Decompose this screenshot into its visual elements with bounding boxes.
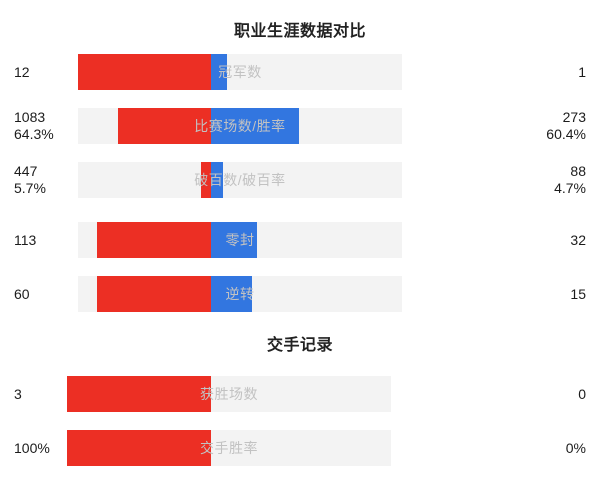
stat-row: 113零封32 [0, 218, 600, 262]
stat-row: 100%交手胜率0% [0, 426, 600, 470]
left-value-main: 12 [14, 64, 30, 80]
right-bar-track [211, 162, 402, 198]
right-value: 0% [536, 440, 600, 457]
left-bar-track [78, 108, 211, 144]
left-bar-fill [201, 162, 211, 198]
left-value-main: 60 [14, 286, 30, 302]
right-bar-fill [211, 54, 227, 90]
left-value-main: 447 [14, 163, 37, 179]
left-value: 100% [0, 440, 64, 457]
section-title-head-to-head: 交手记录 [0, 331, 600, 355]
bar-area: 破百数/破百率 [64, 162, 536, 198]
stat-row: 60逆转15 [0, 272, 600, 316]
left-bar-track [78, 162, 211, 198]
right-bar-track [211, 276, 402, 312]
bar-area: 零封 [64, 222, 536, 258]
bar-area: 获胜场数 [64, 376, 536, 412]
left-bar-fill [67, 430, 211, 466]
left-value: 4475.7% [0, 163, 64, 196]
left-bar-fill [67, 376, 211, 412]
right-value-percent: 4.7% [536, 180, 586, 197]
left-value-main: 3 [14, 386, 22, 402]
right-bar-track [211, 108, 402, 144]
left-bar-track [67, 376, 211, 412]
right-value-main: 273 [563, 109, 586, 125]
left-value-main: 113 [14, 232, 36, 248]
left-value-main: 1083 [14, 109, 45, 125]
right-bar-fill [211, 108, 299, 144]
right-value: 27360.4% [536, 109, 600, 142]
stat-row: 3获胜场数0 [0, 372, 600, 416]
left-bar-fill [97, 276, 211, 312]
left-bar-track [78, 276, 211, 312]
stat-row: 12冠军数1 [0, 50, 600, 94]
right-value-percent: 60.4% [536, 126, 586, 143]
right-value-main: 88 [570, 163, 586, 179]
left-bar-fill [97, 222, 211, 258]
right-value: 1 [536, 64, 600, 81]
left-bar-track [78, 54, 211, 90]
left-value: 60 [0, 286, 64, 303]
left-bar-track [67, 430, 211, 466]
right-bar-fill [211, 276, 252, 312]
section-title-career: 职业生涯数据对比 [0, 17, 600, 41]
stat-row: 4475.7%破百数/破百率884.7% [0, 158, 600, 202]
left-value: 108364.3% [0, 109, 64, 142]
stat-row: 108364.3%比赛场数/胜率27360.4% [0, 104, 600, 148]
right-bar-fill [211, 222, 257, 258]
right-bar-track [211, 376, 391, 412]
stats-comparison-page: 职业生涯数据对比 交手记录 12冠军数1108364.3%比赛场数/胜率2736… [0, 0, 600, 480]
left-value-percent: 64.3% [14, 126, 64, 143]
right-value-main: 15 [570, 286, 586, 302]
right-bar-track [211, 54, 402, 90]
right-value-main: 0 [578, 386, 586, 402]
left-value-main: 100% [14, 440, 50, 456]
left-value-percent: 5.7% [14, 180, 64, 197]
right-bar-track [211, 222, 402, 258]
left-bar-track [78, 222, 211, 258]
right-value: 0 [536, 386, 600, 403]
right-value-main: 32 [570, 232, 586, 248]
bar-area: 冠军数 [64, 54, 536, 90]
right-bar-track [211, 430, 391, 466]
left-bar-fill [78, 54, 211, 90]
bar-area: 比赛场数/胜率 [64, 108, 536, 144]
right-value: 884.7% [536, 163, 600, 196]
left-bar-fill [118, 108, 211, 144]
left-value: 12 [0, 64, 64, 81]
bar-area: 逆转 [64, 276, 536, 312]
bar-area: 交手胜率 [64, 430, 536, 466]
right-value: 32 [536, 232, 600, 249]
left-value: 113 [0, 232, 64, 249]
right-value-main: 0% [566, 440, 586, 456]
right-bar-fill [211, 162, 223, 198]
left-value: 3 [0, 386, 64, 403]
right-value-main: 1 [578, 64, 586, 80]
right-value: 15 [536, 286, 600, 303]
